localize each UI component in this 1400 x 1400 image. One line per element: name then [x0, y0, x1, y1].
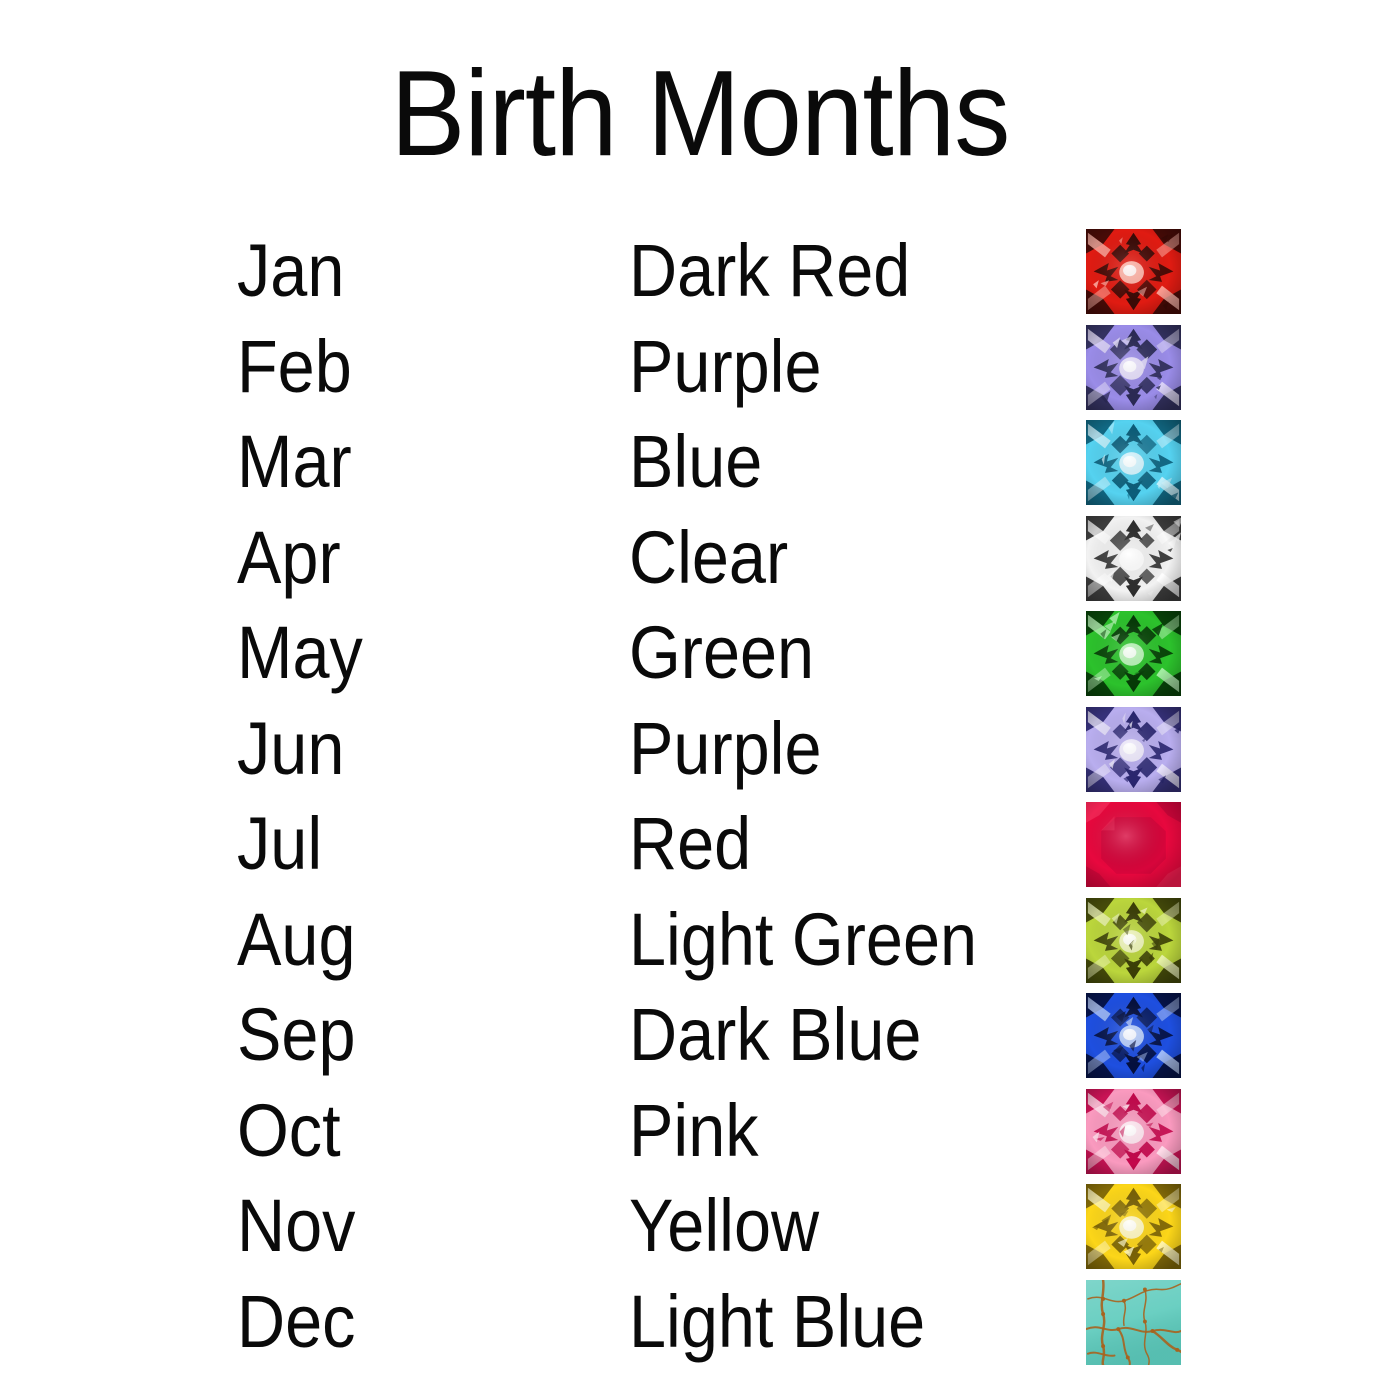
month-label: Oct	[237, 1089, 341, 1173]
color-label: Purple	[629, 325, 822, 409]
month-label: Dec	[237, 1280, 355, 1364]
color-label: Green	[629, 611, 814, 695]
list-item: MayGreen	[0, 611, 1400, 707]
color-label: Blue	[629, 420, 762, 504]
month-label: Jul	[237, 802, 322, 886]
gem-dark-blue-icon	[1086, 993, 1181, 1078]
month-label: Sep	[237, 993, 356, 1077]
gem-green-icon	[1086, 611, 1181, 696]
birth-months-list: JanDark Red FebPurple MarBlue AprClear M…	[0, 229, 1400, 1375]
list-item: NovYellow	[0, 1184, 1400, 1280]
list-item: AprClear	[0, 516, 1400, 612]
color-label: Clear	[629, 516, 788, 600]
gem-purple-icon	[1086, 325, 1181, 410]
gem-light-purple-icon	[1086, 707, 1181, 792]
list-item: AugLight Green	[0, 898, 1400, 994]
gem-light-green-icon	[1086, 898, 1181, 983]
list-item: SepDark Blue	[0, 993, 1400, 1089]
color-label: Red	[629, 802, 751, 886]
list-item: JunPurple	[0, 707, 1400, 803]
gem-red-icon	[1086, 802, 1181, 887]
list-item: OctPink	[0, 1089, 1400, 1185]
color-label: Purple	[629, 707, 822, 791]
month-label: Jun	[237, 707, 344, 791]
month-label: Mar	[237, 420, 352, 504]
color-label: Dark Blue	[629, 993, 921, 1077]
color-label: Yellow	[629, 1184, 819, 1268]
month-label: Jan	[237, 229, 344, 313]
month-label: Feb	[237, 325, 352, 409]
color-label: Light Green	[629, 898, 977, 982]
page-title: Birth Months	[56, 52, 1344, 174]
month-label: May	[237, 611, 363, 695]
list-item: FebPurple	[0, 325, 1400, 421]
color-label: Pink	[629, 1089, 759, 1173]
list-item: JulRed	[0, 802, 1400, 898]
color-label: Light Blue	[629, 1280, 925, 1364]
gem-blue-icon	[1086, 420, 1181, 505]
gem-yellow-icon	[1086, 1184, 1181, 1269]
list-item: DecLight Blue	[0, 1280, 1400, 1376]
color-label: Dark Red	[629, 229, 910, 313]
month-label: Nov	[237, 1184, 355, 1268]
month-label: Apr	[237, 516, 341, 600]
birth-months-page: Birth Months JanDark Red FebPurple MarBl…	[0, 0, 1400, 1400]
list-item: MarBlue	[0, 420, 1400, 516]
gem-dark-red-icon	[1086, 229, 1181, 314]
gem-pink-icon	[1086, 1089, 1181, 1174]
gem-turquoise-icon	[1086, 1280, 1181, 1365]
gem-clear-icon	[1086, 516, 1181, 601]
month-label: Aug	[237, 898, 356, 982]
list-item: JanDark Red	[0, 229, 1400, 325]
